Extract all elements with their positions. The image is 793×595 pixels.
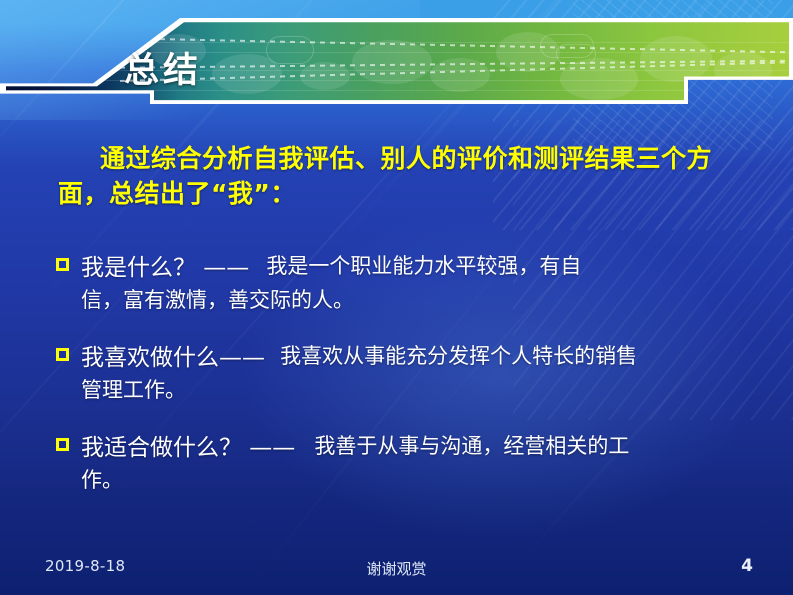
footer-center-text: 谢谢观赏: [0, 558, 793, 579]
bullet-answer-1-line1: 我是一个职业能力水平较强，有自: [266, 254, 581, 278]
bullet-answer-2-line2: 管理工作。: [81, 375, 746, 407]
bullet-answer-3-line1: 我善于从事与沟通，经营相关的工: [314, 434, 629, 458]
list-item: 我适合做什么？ —— 我善于从事与沟通，经营相关的工 作。: [56, 432, 746, 496]
bullet-question-3: 我适合做什么？ ——: [81, 432, 295, 465]
page-title: 总结: [124, 54, 202, 89]
slide-footer: 2019-8-18 谢谢观赏 4: [0, 557, 793, 581]
lead-paragraph: 通过综合分析自我评估、别人的评价和测评结果三个方面，总结出了“我”：: [58, 142, 738, 211]
bullet-answer-1-line2: 信，富有激情，善交际的人。: [81, 285, 746, 317]
bullet-question-2: 我喜欢做什么——: [81, 342, 265, 375]
hollow-square-bullet-icon: [56, 348, 69, 361]
bullet-answer-3-line2: 作。: [81, 465, 746, 497]
bullet-answer-2-line1: 我喜欢从事能充分发挥个人特长的销售: [280, 344, 637, 368]
list-item: 我喜欢做什么—— 我喜欢从事能充分发挥个人特长的销售 管理工作。: [56, 342, 746, 406]
hollow-square-bullet-icon: [56, 438, 69, 451]
title-banner: 总结: [0, 18, 793, 104]
hollow-square-bullet-icon: [56, 258, 69, 271]
bullet-question-1: 我是什么？ ——: [81, 252, 249, 285]
presentation-slide: 总结 通过综合分析自我评估、别人的评价和测评结果三个方面，总结出了“我”： 我是…: [0, 0, 793, 595]
bullet-list: 我是什么？ —— 我是一个职业能力水平较强，有自 信，富有激情，善交际的人。 我…: [56, 252, 746, 522]
list-item: 我是什么？ —— 我是一个职业能力水平较强，有自 信，富有激情，善交际的人。: [56, 252, 746, 316]
slide-page-number: 4: [741, 556, 753, 576]
